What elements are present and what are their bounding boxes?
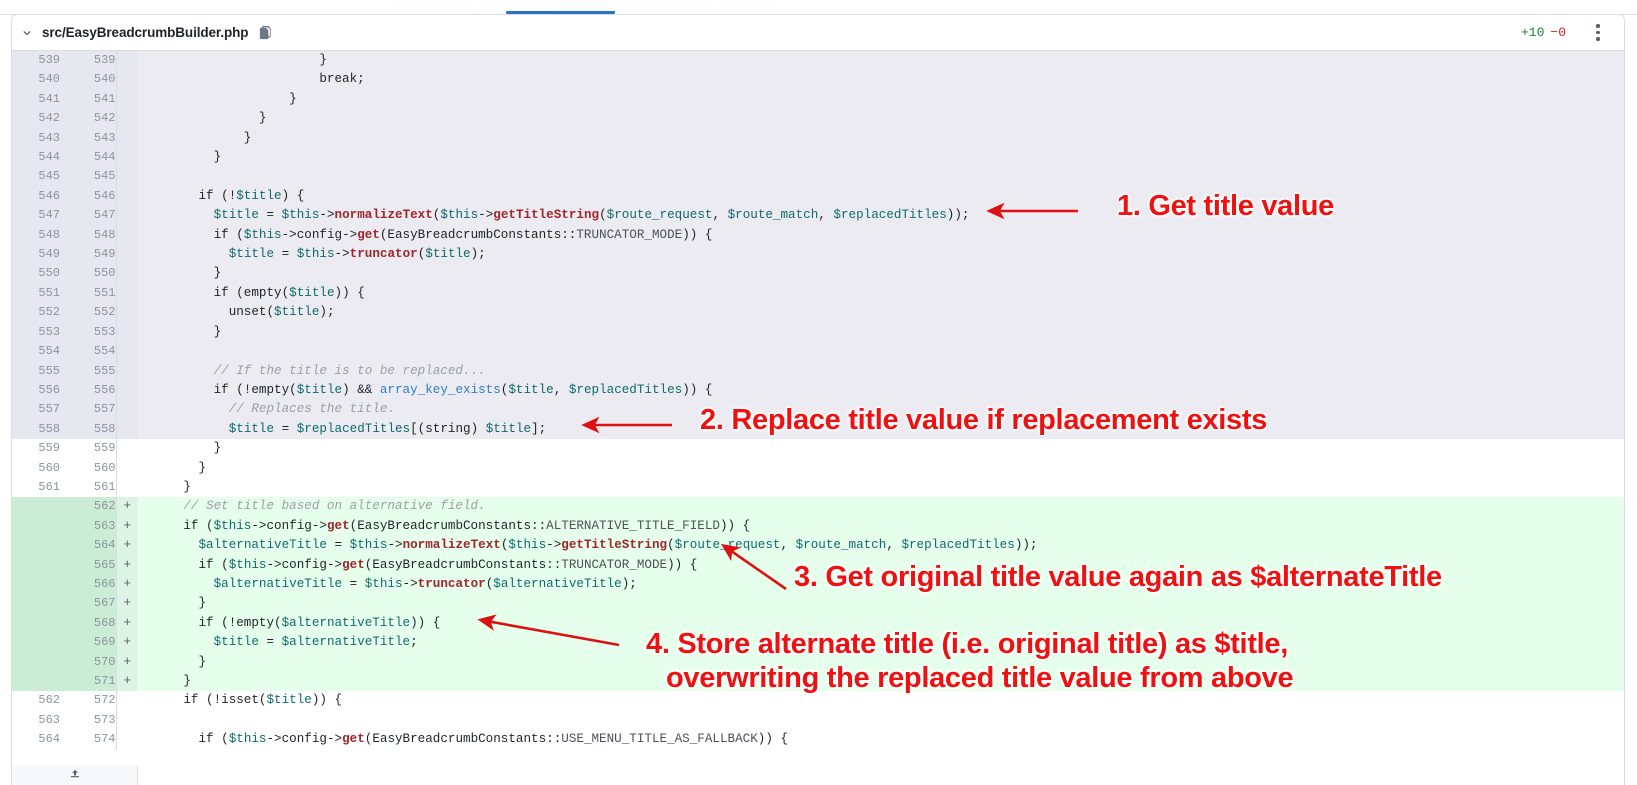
- diff-row[interactable]: 547547 $title = $this->normalizeText($th…: [12, 206, 1624, 225]
- line-number-new[interactable]: 550: [60, 264, 116, 283]
- diff-row[interactable]: 567+ }: [12, 594, 1624, 613]
- diff-marker: [116, 381, 138, 400]
- code-token: $this: [440, 208, 478, 222]
- tab-ghost[interactable]: [724, 2, 772, 13]
- code-token: ) &&: [342, 383, 380, 397]
- code-token: (EasyBreadcrumbConstants::: [365, 558, 562, 572]
- code-token: ,: [818, 208, 833, 222]
- code-token: $this: [214, 519, 252, 533]
- line-number-new[interactable]: 543: [60, 129, 116, 148]
- kebab-menu-icon[interactable]: [1588, 22, 1608, 44]
- diff-row[interactable]: 563573: [12, 711, 1624, 730]
- diff-marker: [116, 109, 138, 128]
- diff-row[interactable]: 559559 }: [12, 439, 1624, 458]
- line-number-new[interactable]: 560: [60, 459, 116, 478]
- line-number-new[interactable]: 544: [60, 148, 116, 167]
- line-number-old[interactable]: 546: [12, 187, 60, 206]
- line-number-old[interactable]: [12, 672, 60, 691]
- diff-marker: [116, 478, 138, 497]
- diff-row[interactable]: 553553 }: [12, 323, 1624, 342]
- code-token: truncator: [350, 247, 418, 261]
- diff-row[interactable]: 540540 break;: [12, 70, 1624, 89]
- line-number-old[interactable]: 553: [12, 323, 60, 342]
- code-token: )) {: [667, 558, 697, 572]
- code-token: (EasyBreadcrumbConstants::: [350, 519, 547, 533]
- code-token: )) {: [682, 228, 712, 242]
- code-token: =: [342, 577, 365, 591]
- line-number-old[interactable]: 545: [12, 167, 60, 186]
- line-number-old[interactable]: 557: [12, 400, 60, 419]
- code-line[interactable]: // Set title based on alternative field.: [138, 497, 1624, 516]
- line-number-old[interactable]: 539: [12, 51, 60, 70]
- code-token: if (!empty(: [138, 383, 297, 397]
- code-token: (EasyBreadcrumbConstants::: [380, 228, 577, 242]
- code-token: $title: [274, 305, 319, 319]
- code-token: ->: [403, 577, 418, 591]
- code-token: ));: [947, 208, 970, 222]
- code-token: (: [599, 208, 607, 222]
- expand-up-icon[interactable]: [12, 766, 138, 785]
- code-token: ->config->: [267, 558, 343, 572]
- code-token: )) {: [312, 693, 342, 707]
- diff-row[interactable]: 569+ $title = $alternativeTitle;: [12, 633, 1624, 652]
- code-line[interactable]: if ($this->config->get(EasyBreadcrumbCon…: [138, 730, 1624, 749]
- code-token: ->config->: [267, 732, 343, 746]
- chevron-down-icon[interactable]: [12, 15, 42, 50]
- line-number-old[interactable]: [12, 517, 60, 536]
- line-number-new[interactable]: 541: [60, 90, 116, 109]
- code-token: if (!empty(: [138, 616, 282, 630]
- code-token: getTitleString: [493, 208, 599, 222]
- code-token: }: [138, 111, 266, 125]
- code-token: ->: [387, 538, 402, 552]
- diff-marker: [116, 70, 138, 89]
- code-token: $replacedTitles: [833, 208, 946, 222]
- diff-marker: +: [116, 575, 138, 594]
- diff-table: 539539 }540540 break;541541 }542542 }543…: [12, 51, 1624, 750]
- code-line[interactable]: if (empty($title)) {: [138, 284, 1624, 303]
- code-token: $route_match: [796, 538, 887, 552]
- line-number-old[interactable]: [12, 575, 60, 594]
- code-token: getTitleString: [561, 538, 667, 552]
- line-number-new[interactable]: 552: [60, 303, 116, 322]
- code-token: [138, 635, 214, 649]
- code-line[interactable]: $alternativeTitle = $this->normalizeText…: [138, 536, 1624, 555]
- diff-viewer[interactable]: 539539 }540540 break;541541 }542542 }543…: [11, 51, 1625, 785]
- diff-row[interactable]: 539539 }: [12, 51, 1624, 70]
- code-token: get: [342, 558, 365, 572]
- code-line[interactable]: $title = $this->truncator($title);: [138, 245, 1624, 264]
- code-token: }: [138, 461, 206, 475]
- code-token: )) {: [335, 286, 365, 300]
- code-line[interactable]: if (!empty($alternativeTitle)) {: [138, 614, 1624, 633]
- diff-marker: [116, 400, 138, 419]
- code-line[interactable]: }: [138, 672, 1624, 691]
- diff-row[interactable]: 550550 }: [12, 264, 1624, 283]
- diff-marker: +: [116, 614, 138, 633]
- line-number-new[interactable]: 564: [60, 536, 116, 555]
- code-token: // Replaces the title.: [138, 402, 395, 416]
- code-token: if (!: [138, 189, 236, 203]
- code-line[interactable]: [138, 342, 1624, 361]
- diff-row[interactable]: 564574 if ($this->config->get(EasyBreadc…: [12, 730, 1624, 749]
- code-token: $alternativeTitle: [198, 538, 326, 552]
- code-token: (: [667, 538, 675, 552]
- line-number-old[interactable]: [12, 536, 60, 555]
- code-line[interactable]: }: [138, 129, 1624, 148]
- code-token: ->: [335, 247, 350, 261]
- code-token: if (: [138, 732, 229, 746]
- code-line[interactable]: break;: [138, 70, 1624, 89]
- diff-row[interactable]: 557557 // Replaces the title.: [12, 400, 1624, 419]
- line-number-new[interactable]: 567: [60, 594, 116, 613]
- line-number-old[interactable]: 558: [12, 420, 60, 439]
- diff-row[interactable]: 560560 }: [12, 459, 1624, 478]
- line-number-old[interactable]: 548: [12, 226, 60, 245]
- line-number-old[interactable]: [12, 614, 60, 633]
- diff-row[interactable]: 562+ // Set title based on alternative f…: [12, 497, 1624, 516]
- code-token: ,: [886, 538, 901, 552]
- code-token: $this: [229, 732, 267, 746]
- code-token: [138, 538, 198, 552]
- diff-row[interactable]: 568+ if (!empty($alternativeTitle)) {: [12, 614, 1624, 633]
- line-number-old[interactable]: 559: [12, 439, 60, 458]
- code-token: }: [138, 655, 206, 669]
- code-token: )) {: [682, 383, 712, 397]
- line-number-old[interactable]: 542: [12, 109, 60, 128]
- line-number-new[interactable]: 547: [60, 206, 116, 225]
- line-number-new[interactable]: 559: [60, 439, 116, 458]
- diff-marker: [116, 323, 138, 342]
- code-line[interactable]: [138, 167, 1624, 186]
- line-number-new[interactable]: 546: [60, 187, 116, 206]
- diff-row[interactable]: 546546 if (!$title) {: [12, 187, 1624, 206]
- diff-marker: [116, 90, 138, 109]
- diff-marker: [116, 148, 138, 167]
- tab-ghost[interactable]: [392, 2, 470, 13]
- diff-row[interactable]: 552552 unset($title);: [12, 303, 1624, 322]
- code-token: }: [138, 53, 327, 67]
- code-token: }: [138, 441, 221, 455]
- code-token: );: [471, 247, 486, 261]
- code-line[interactable]: }: [138, 459, 1624, 478]
- line-number-new[interactable]: 554: [60, 342, 116, 361]
- code-line[interactable]: }: [138, 51, 1624, 70]
- code-token: }: [138, 150, 221, 164]
- code-line[interactable]: if (!empty($title) && array_key_exists($…: [138, 381, 1624, 400]
- code-token: $this: [297, 247, 335, 261]
- diff-row[interactable]: 555555 // If the title is to be replaced…: [12, 362, 1624, 381]
- code-token: $replacedTitles: [297, 422, 410, 436]
- line-number-old[interactable]: 563: [12, 711, 60, 730]
- code-token: }: [138, 92, 297, 106]
- code-token: $alternativeTitle: [214, 577, 342, 591]
- code-line[interactable]: // If the title is to be replaced...: [138, 362, 1624, 381]
- code-token: ) {: [282, 189, 305, 203]
- expand-context-row[interactable]: [11, 766, 1625, 785]
- line-number-new[interactable]: 568: [60, 614, 116, 633]
- code-token: if (!isset(: [138, 693, 266, 707]
- line-number-old[interactable]: [12, 633, 60, 652]
- code-line[interactable]: }: [138, 594, 1624, 613]
- code-token: $replacedTitles: [569, 383, 682, 397]
- diff-row[interactable]: 571+ }: [12, 672, 1624, 691]
- code-line[interactable]: }: [138, 109, 1624, 128]
- additions-count: +10: [1521, 25, 1544, 40]
- diff-marker: [116, 730, 138, 749]
- line-number-new[interactable]: 573: [60, 711, 116, 730]
- diff-row[interactable]: 564+ $alternativeTitle = $this->normaliz…: [12, 536, 1624, 555]
- code-token: TRUNCATOR_MODE: [576, 228, 682, 242]
- diff-marker: +: [116, 536, 138, 555]
- line-number-old[interactable]: 560: [12, 459, 60, 478]
- code-token: ;: [410, 635, 418, 649]
- diff-body: 539539 }540540 break;541541 }542542 }543…: [12, 51, 1624, 750]
- code-line[interactable]: $title = $this->normalizeText($this->get…: [138, 206, 1624, 225]
- code-token: $title: [214, 635, 259, 649]
- diff-row[interactable]: 566+ $alternativeTitle = $this->truncato…: [12, 575, 1624, 594]
- line-number-new[interactable]: 561: [60, 478, 116, 497]
- code-token: ,: [780, 538, 795, 552]
- code-token: ALTERNATIVE_TITLE_FIELD: [546, 519, 720, 533]
- tab-ghost[interactable]: [478, 2, 498, 13]
- tab-ghost[interactable]: [628, 2, 708, 13]
- code-line[interactable]: // Replaces the title.: [138, 400, 1624, 419]
- code-token: [138, 208, 214, 222]
- diff-row[interactable]: 561561 }: [12, 478, 1624, 497]
- line-number-new[interactable]: 542: [60, 109, 116, 128]
- code-token: =: [259, 208, 282, 222]
- code-token: $alternativeTitle: [282, 616, 410, 630]
- code-token: )) {: [410, 616, 440, 630]
- diff-row[interactable]: 545545: [12, 167, 1624, 186]
- code-token: get: [357, 228, 380, 242]
- diff-marker: +: [116, 517, 138, 536]
- code-line[interactable]: $alternativeTitle = $this->truncator($al…: [138, 575, 1624, 594]
- line-number-old[interactable]: [12, 653, 60, 672]
- code-token: ->config->: [282, 228, 358, 242]
- code-token: $title: [214, 208, 259, 222]
- line-number-old[interactable]: 547: [12, 206, 60, 225]
- line-number-old[interactable]: 552: [12, 303, 60, 322]
- code-line[interactable]: if (!$title) {: [138, 187, 1624, 206]
- line-number-new[interactable]: 574: [60, 730, 116, 749]
- line-number-old[interactable]: 541: [12, 90, 60, 109]
- line-number-old[interactable]: [12, 497, 60, 516]
- diff-marker: [116, 226, 138, 245]
- code-token: $title: [486, 422, 531, 436]
- code-token: normalizeText: [335, 208, 433, 222]
- line-number-old[interactable]: 561: [12, 478, 60, 497]
- line-number-new[interactable]: 569: [60, 633, 116, 652]
- line-number-new[interactable]: 572: [60, 691, 116, 710]
- code-token: TRUNCATOR_MODE: [561, 558, 667, 572]
- diff-row[interactable]: 570+ }: [12, 653, 1624, 672]
- line-number-old[interactable]: 550: [12, 264, 60, 283]
- diff-marker: [116, 245, 138, 264]
- code-token: $this: [244, 228, 282, 242]
- code-token: }: [138, 674, 191, 688]
- diff-marker: [116, 362, 138, 381]
- code-token: $title: [297, 383, 342, 397]
- code-line[interactable]: }: [138, 439, 1624, 458]
- code-token: $title: [229, 422, 274, 436]
- diff-row[interactable]: 541541 }: [12, 90, 1624, 109]
- code-line[interactable]: }: [138, 653, 1624, 672]
- line-number-new[interactable]: 566: [60, 575, 116, 594]
- code-token: $title: [229, 247, 274, 261]
- diff-marker: [116, 167, 138, 186]
- code-token: $title: [508, 383, 553, 397]
- diff-row[interactable]: 562572 if (!isset($title)) {: [12, 691, 1624, 710]
- code-token: $this: [229, 558, 267, 572]
- code-token: $title: [289, 286, 334, 300]
- code-token: $title: [425, 247, 470, 261]
- code-token: [138, 422, 229, 436]
- code-token: =: [274, 247, 297, 261]
- diff-marker: [116, 459, 138, 478]
- line-number-new[interactable]: 558: [60, 420, 116, 439]
- code-token: [(string): [410, 422, 486, 436]
- code-token: if (: [138, 228, 244, 242]
- code-token: ));: [1015, 538, 1038, 552]
- line-number-new[interactable]: 570: [60, 653, 116, 672]
- code-line[interactable]: }: [138, 90, 1624, 109]
- diff-row[interactable]: 542542 }: [12, 109, 1624, 128]
- code-token: ->: [319, 208, 334, 222]
- code-token: // Set title based on alternative field.: [138, 499, 486, 513]
- code-token: )) {: [720, 519, 750, 533]
- code-token: if (: [138, 519, 214, 533]
- line-number-old[interactable]: 540: [12, 70, 60, 89]
- line-number-new[interactable]: 563: [60, 517, 116, 536]
- diff-row[interactable]: 549549 $title = $this->truncator($title)…: [12, 245, 1624, 264]
- code-line[interactable]: unset($title);: [138, 303, 1624, 322]
- line-number-new[interactable]: 571: [60, 672, 116, 691]
- diff-row[interactable]: 563+ if ($this->config->get(EasyBreadcru…: [12, 517, 1624, 536]
- diff-row[interactable]: 543543 }: [12, 129, 1624, 148]
- diff-marker: [116, 303, 138, 322]
- code-token: [138, 577, 214, 591]
- diff-marker: +: [116, 672, 138, 691]
- code-token: $this: [508, 538, 546, 552]
- code-token: $route_request: [607, 208, 713, 222]
- code-line[interactable]: $title = $replacedTitles[(string) $title…: [138, 420, 1624, 439]
- line-number-old[interactable]: 551: [12, 284, 60, 303]
- line-number-new[interactable]: 551: [60, 284, 116, 303]
- diff-marker: +: [116, 633, 138, 652]
- code-line[interactable]: }: [138, 478, 1624, 497]
- line-number-new[interactable]: 565: [60, 556, 116, 575]
- diff-marker: [116, 51, 138, 70]
- code-token: =: [327, 538, 350, 552]
- diff-row[interactable]: 554554: [12, 342, 1624, 361]
- diff-marker: [116, 206, 138, 225]
- code-token: ->: [478, 208, 493, 222]
- code-line[interactable]: }: [138, 264, 1624, 283]
- line-number-old[interactable]: 562: [12, 691, 60, 710]
- code-line[interactable]: if (!isset($title)) {: [138, 691, 1624, 710]
- diff-marker: [116, 711, 138, 730]
- diff-marker: [116, 342, 138, 361]
- code-line[interactable]: if ($this->config->get(EasyBreadcrumbCon…: [138, 226, 1624, 245]
- code-token: ->: [546, 538, 561, 552]
- code-token: =: [259, 635, 282, 649]
- line-number-old[interactable]: 544: [12, 148, 60, 167]
- line-number-old[interactable]: 554: [12, 342, 60, 361]
- code-token: $this: [350, 538, 388, 552]
- diff-marker: [116, 264, 138, 283]
- code-line[interactable]: $title = $alternativeTitle;: [138, 633, 1624, 652]
- diff-row[interactable]: 551551 if (empty($title)) {: [12, 284, 1624, 303]
- diff-marker: [116, 439, 138, 458]
- code-token: )) {: [758, 732, 788, 746]
- code-token: $route_request: [675, 538, 781, 552]
- line-number-new[interactable]: 555: [60, 362, 116, 381]
- line-number-new[interactable]: 548: [60, 226, 116, 245]
- line-number-new[interactable]: 557: [60, 400, 116, 419]
- line-number-old[interactable]: [12, 556, 60, 575]
- diff-marker: [116, 129, 138, 148]
- line-number-new[interactable]: 553: [60, 323, 116, 342]
- code-token: ];: [531, 422, 546, 436]
- code-token: $this: [282, 208, 320, 222]
- diff-row[interactable]: 548548 if ($this->config->get(EasyBreadc…: [12, 226, 1624, 245]
- code-token: }: [138, 131, 251, 145]
- diff-row[interactable]: 556556 if (!empty($title) && array_key_e…: [12, 381, 1624, 400]
- line-number-old[interactable]: 556: [12, 381, 60, 400]
- code-line[interactable]: if ($this->config->get(EasyBreadcrumbCon…: [138, 517, 1624, 536]
- code-token: truncator: [418, 577, 486, 591]
- code-token: unset(: [138, 305, 274, 319]
- code-token: (EasyBreadcrumbConstants::: [365, 732, 562, 746]
- code-line[interactable]: }: [138, 148, 1624, 167]
- diff-marker: [116, 420, 138, 439]
- code-token: normalizeText: [403, 538, 501, 552]
- line-number-old[interactable]: 549: [12, 245, 60, 264]
- code-token: }: [138, 480, 191, 494]
- copy-path-icon[interactable]: [257, 24, 274, 41]
- code-token: get: [327, 519, 350, 533]
- line-number-old[interactable]: 564: [12, 730, 60, 749]
- code-line[interactable]: if ($this->config->get(EasyBreadcrumbCon…: [138, 556, 1624, 575]
- code-token: );: [622, 577, 637, 591]
- line-number-old[interactable]: 543: [12, 129, 60, 148]
- line-number-new[interactable]: 539: [60, 51, 116, 70]
- line-number-old[interactable]: [12, 594, 60, 613]
- code-token: if (: [138, 558, 229, 572]
- diff-row[interactable]: 565+ if ($this->config->get(EasyBreadcru…: [12, 556, 1624, 575]
- line-number-new[interactable]: 545: [60, 167, 116, 186]
- diff-row[interactable]: 558558 $title = $replacedTitles[(string)…: [12, 420, 1624, 439]
- code-token: $title: [266, 693, 311, 707]
- line-number-new[interactable]: 562: [60, 497, 116, 516]
- line-number-new[interactable]: 540: [60, 70, 116, 89]
- browser-tab-strip: [0, 0, 1637, 15]
- code-token: $alternativeTitle: [493, 577, 621, 591]
- line-number-new[interactable]: 549: [60, 245, 116, 264]
- code-line[interactable]: [138, 711, 1624, 730]
- code-token: ,: [712, 208, 727, 222]
- diff-marker: [116, 187, 138, 206]
- line-number-old[interactable]: 555: [12, 362, 60, 381]
- code-line[interactable]: }: [138, 323, 1624, 342]
- diff-row[interactable]: 544544 }: [12, 148, 1624, 167]
- line-number-new[interactable]: 556: [60, 381, 116, 400]
- diff-marker: +: [116, 497, 138, 516]
- code-token: $this: [365, 577, 403, 591]
- diff-marker: [116, 691, 138, 710]
